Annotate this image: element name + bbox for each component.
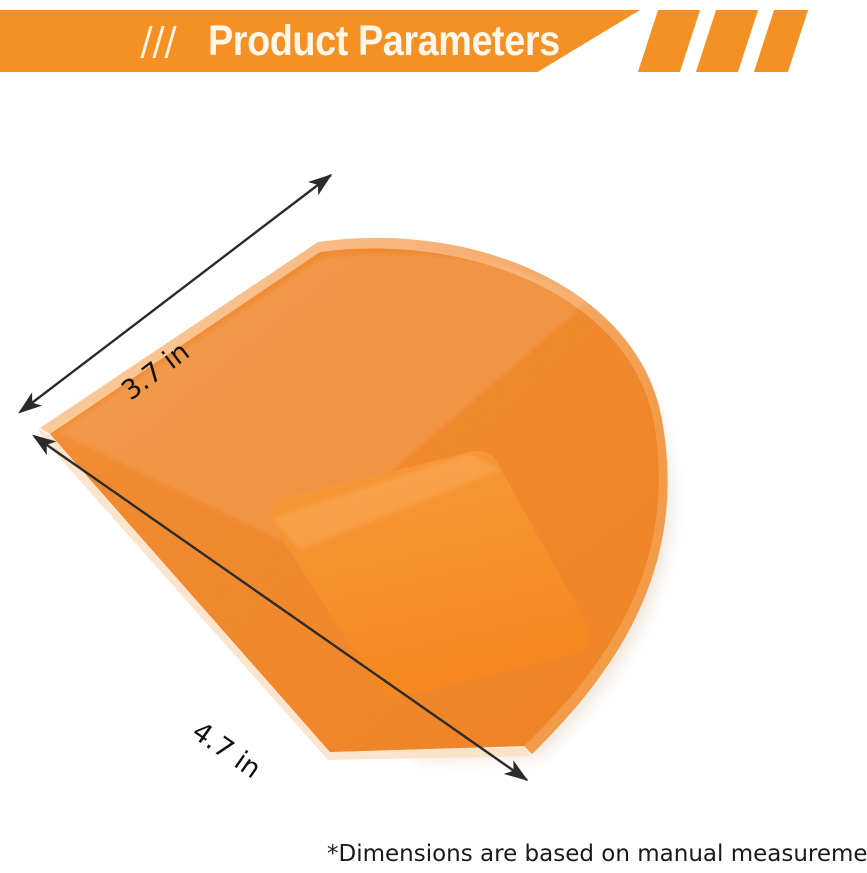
product-image: 3.7 in 4.7 in xyxy=(0,120,867,820)
footnote-text: *Dimensions are based on manual measurem… xyxy=(327,841,867,867)
banner-chevron-2-icon xyxy=(696,10,758,72)
triple-slash-icon xyxy=(143,26,191,58)
header-banner: Product Parameters xyxy=(0,10,867,72)
banner-chevron-3-icon xyxy=(754,10,808,72)
banner-chevron-1-icon xyxy=(638,10,700,72)
page-title: Product Parameters xyxy=(208,19,560,63)
product-parameters-page: Product Parameters xyxy=(0,0,867,873)
